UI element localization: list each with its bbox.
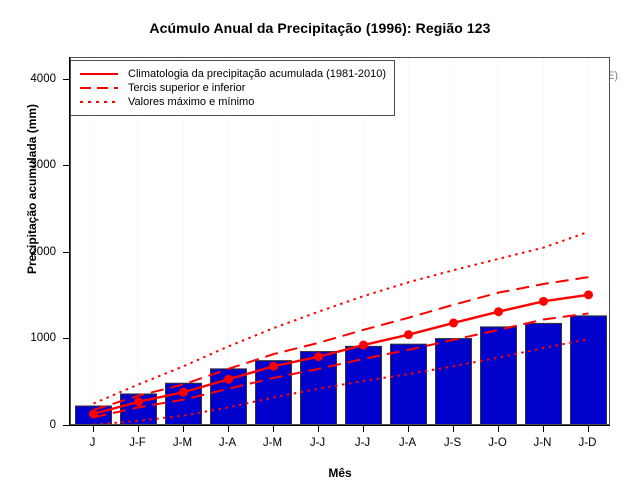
bar-J-N	[526, 323, 562, 424]
data-point-marker	[134, 397, 143, 406]
y-tick-mark	[63, 252, 70, 253]
x-tick-mark	[318, 425, 319, 432]
legend-label-terciles: Tercis superior e inferior	[128, 81, 245, 95]
data-point-marker	[359, 341, 368, 350]
x-tick-label-J: J	[90, 437, 96, 449]
y-tick-mark	[63, 165, 70, 166]
chart-legend: Climatologia da precipitação acumulada (…	[70, 60, 395, 116]
x-tick-label-J-S: J-S	[444, 437, 461, 449]
legend-label-climatology: Climatologia da precipitação acumulada (…	[128, 67, 386, 81]
data-point-marker	[269, 362, 278, 371]
data-point-marker	[224, 375, 233, 384]
data-point-marker	[404, 330, 413, 339]
bar-J-J	[346, 346, 382, 424]
bar-J-S	[436, 339, 472, 424]
y-tick-mark	[63, 338, 70, 339]
x-tick-mark	[588, 425, 589, 432]
bar-J-O	[481, 327, 517, 424]
legend-label-minmax: Valores máximo e mínimo	[128, 95, 254, 109]
x-axis-line	[70, 425, 610, 426]
x-tick-label-J-A: J-A	[219, 437, 236, 449]
x-tick-mark	[138, 425, 139, 432]
y-tick-mark	[63, 79, 70, 80]
data-point-marker	[314, 352, 323, 361]
x-tick-label-J-N: J-N	[534, 437, 552, 449]
x-axis-title: Mês	[70, 466, 610, 480]
chart-figure: Acúmulo Anual da Precipitação (1996): Re…	[0, 0, 640, 500]
legend-key-dotted-line-icon	[78, 95, 120, 109]
legend-item: Valores máximo e mínimo	[78, 95, 386, 109]
legend-item: Climatologia da precipitação acumulada (…	[78, 67, 386, 81]
legend-key-dashed-line-icon	[78, 81, 120, 95]
legend-item: Tercis superior e inferior	[78, 81, 386, 95]
data-point-marker	[179, 388, 188, 397]
y-tick-label: 0	[50, 419, 56, 431]
data-point-marker	[584, 290, 593, 299]
bar-J-A	[391, 344, 427, 424]
x-tick-label-J-D: J-D	[579, 437, 597, 449]
bar-J-J	[301, 352, 337, 424]
x-axis: JJ-FJ-MJ-AJ-MJ-JJ-JJ-AJ-SJ-OJ-NJ-D	[70, 425, 610, 465]
x-tick-mark	[228, 425, 229, 432]
x-tick-mark	[93, 425, 94, 432]
x-tick-label-J-J: J-J	[355, 437, 370, 449]
x-tick-mark	[363, 425, 364, 432]
data-point-marker	[539, 297, 548, 306]
x-tick-label-J-M: J-M	[173, 437, 192, 449]
x-tick-label-J-O: J-O	[488, 437, 507, 449]
data-point-marker	[494, 307, 503, 316]
x-tick-mark	[273, 425, 274, 432]
x-tick-label-J-A: J-A	[399, 437, 416, 449]
chart-title: Acúmulo Anual da Precipitação (1996): Re…	[0, 20, 640, 36]
x-tick-label-J-J: J-J	[310, 437, 325, 449]
y-tick-mark	[63, 425, 70, 426]
x-tick-label-J-M: J-M	[263, 437, 282, 449]
x-tick-mark	[453, 425, 454, 432]
x-tick-mark	[183, 425, 184, 432]
y-axis-title: Precipitação acumulada (mm)	[25, 39, 39, 339]
data-point-marker	[449, 318, 458, 327]
legend-key-solid-line-icon	[78, 67, 120, 81]
x-tick-mark	[543, 425, 544, 432]
x-tick-mark	[498, 425, 499, 432]
bar-J-D	[571, 316, 607, 424]
x-tick-mark	[408, 425, 409, 432]
x-tick-label-J-F: J-F	[129, 437, 146, 449]
